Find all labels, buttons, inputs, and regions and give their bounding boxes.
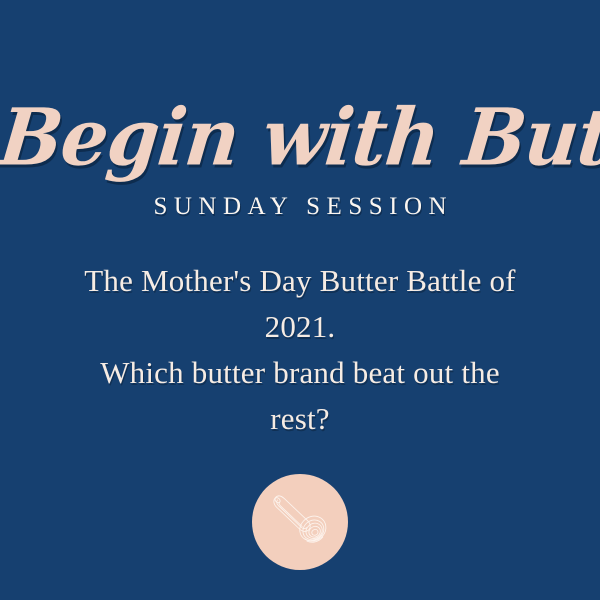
body-copy: The Mother's Day Butter Battle of 2021. …	[50, 258, 550, 442]
body-line-4: rest?	[50, 396, 550, 442]
body-line-3: Which butter brand beat out the	[50, 350, 550, 396]
butter-spoon-logo	[252, 474, 348, 570]
poster-canvas: Begin with Butter SUNDAY SESSION The Mot…	[0, 0, 600, 600]
body-line-2: 2021.	[50, 304, 550, 350]
page-title: Begin with Butter	[0, 93, 600, 182]
page-subtitle: SUNDAY SESSION	[0, 192, 600, 222]
spoon-with-butter-icon	[262, 484, 338, 560]
body-line-1: The Mother's Day Butter Battle of	[50, 258, 550, 304]
